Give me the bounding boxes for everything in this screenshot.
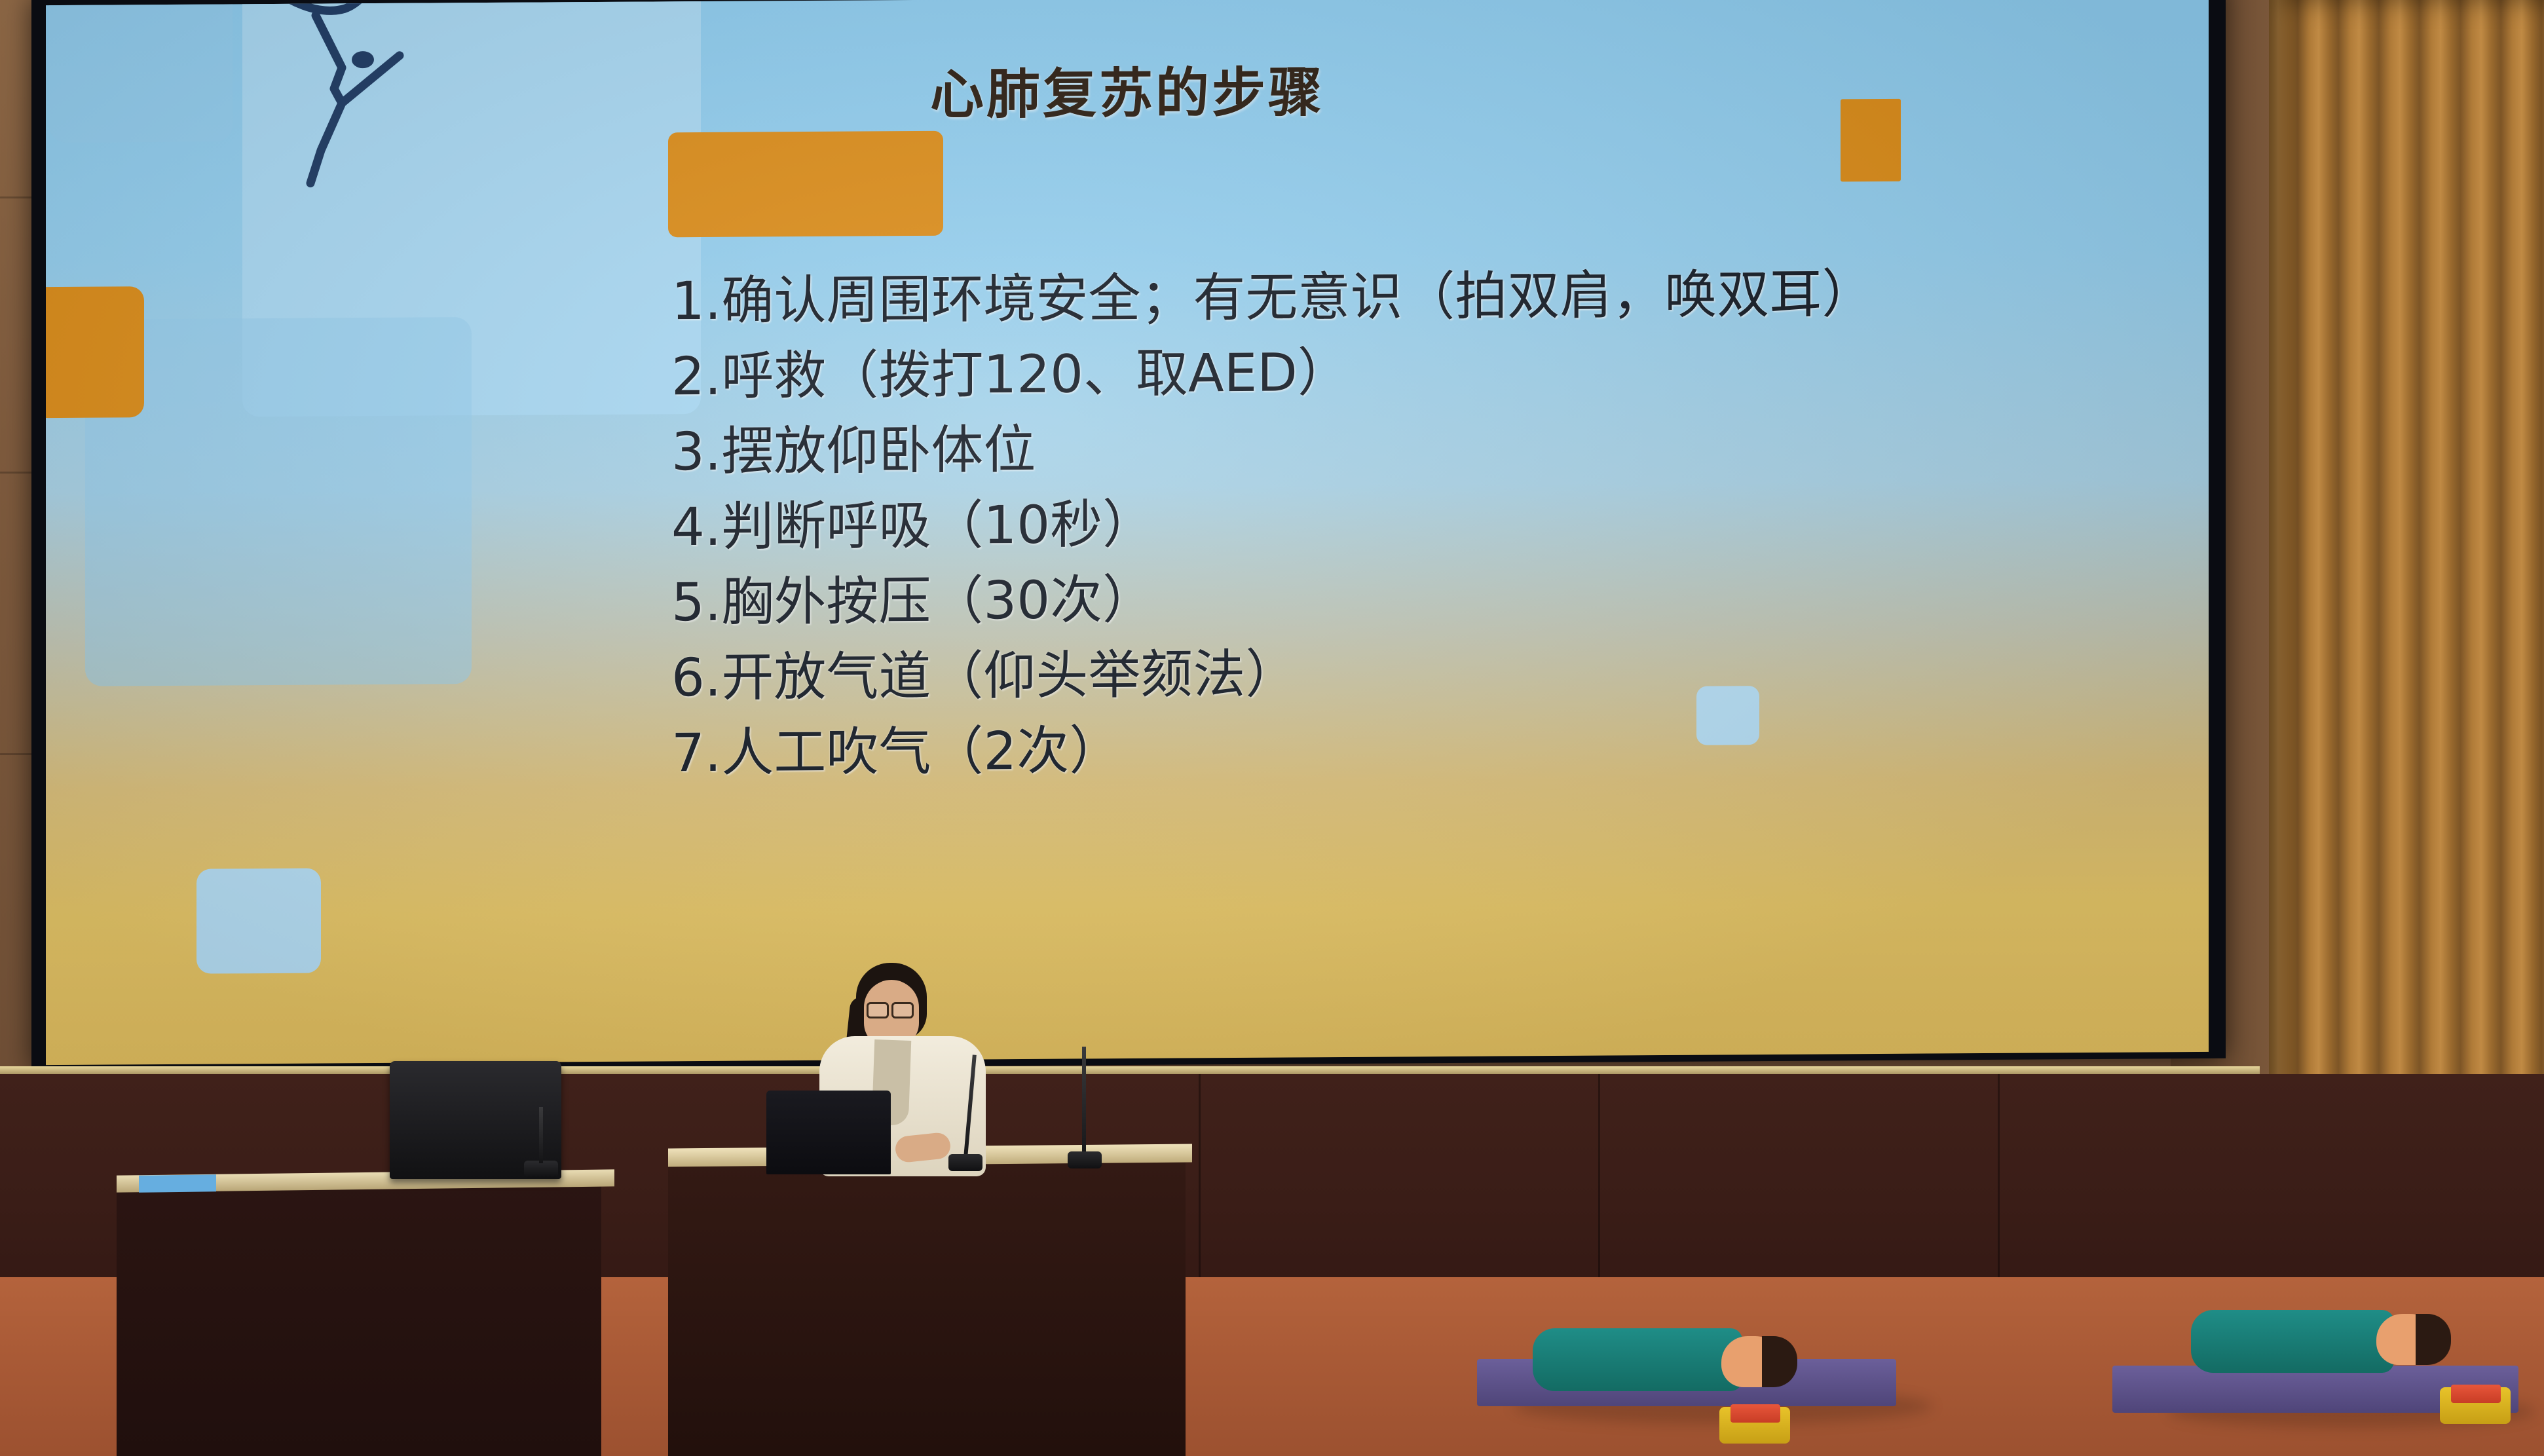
microphone-stem (539, 1107, 543, 1163)
list-item: 7.人工吹气（2次） (671, 706, 2169, 791)
projection-screen: 心肺复苏的步骤 1.确认周围环境安全；有无意识（拍双肩，唤双耳） 2.呼救（拨打… (46, 0, 2209, 1065)
glasses-right-lens (891, 1002, 914, 1018)
speaker-desk (668, 1153, 1186, 1456)
glasses-left-lens (867, 1002, 889, 1018)
manikin-right-body (2191, 1310, 2394, 1373)
manikin-right-aed-lid (2451, 1385, 2501, 1403)
manikin-left-aed-lid (1730, 1404, 1780, 1423)
list-item: 2.呼救（拨打120、取AED） (671, 329, 2169, 414)
gold-curtain (2269, 0, 2544, 1113)
slide-title: 心肺复苏的步骤 (46, 43, 2209, 134)
gooseneck-microphone-base (948, 1154, 982, 1171)
left-podium (117, 1179, 601, 1456)
tall-microphone-stem (1082, 1047, 1086, 1165)
list-item: 4.判断呼吸（10秒） (671, 480, 2169, 565)
orange-square-left-edge (46, 286, 144, 418)
laptop (766, 1091, 891, 1174)
slide-step-list: 1.确认周围环境安全；有无意识（拍双肩，唤双耳） 2.呼救（拨打120、取AED… (671, 254, 2169, 791)
list-item: 5.胸外按压（30次） (671, 555, 2169, 640)
list-item: 3.摆放仰卧体位 (671, 405, 2169, 489)
lecture-hall-photo: 心肺复苏的步骤 1.确认周围环境安全；有无意识（拍双肩，唤双耳） 2.呼救（拨打… (0, 0, 2544, 1456)
blue-card (139, 1174, 216, 1192)
orange-bar-top-left (668, 131, 943, 238)
list-item: 1.确认周围环境安全；有无意识（拍双肩，唤双耳） (671, 254, 2169, 339)
tall-microphone-base (1068, 1151, 1102, 1168)
manikin-left-body (1533, 1328, 1742, 1391)
projection-screen-frame: 心肺复苏的步骤 1.确认周围环境安全；有无意识（拍双肩，唤双耳） 2.呼救（拨打… (31, 0, 2226, 1072)
list-item: 6.开放气道（仰头举颏法） (671, 631, 2169, 715)
rounded-square-blue-bottom-left (196, 868, 321, 974)
